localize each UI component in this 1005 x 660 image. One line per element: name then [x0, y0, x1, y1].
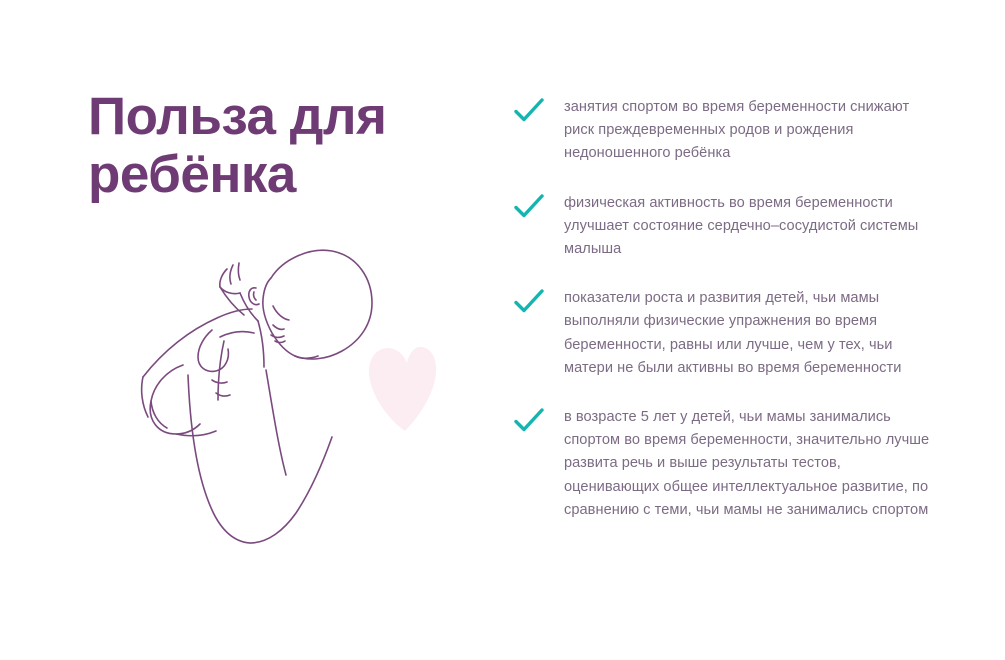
benefit-text: показатели роста и развития детей, чьи м…: [564, 287, 934, 380]
benefit-item-3: показатели роста и развития детей, чьи м…: [514, 287, 934, 380]
benefit-text: занятия спортом во время беременности сн…: [564, 96, 934, 166]
benefit-text: физическая активность во время беременно…: [564, 192, 934, 262]
check-icon: [514, 98, 544, 124]
benefit-item-4: в возрасте 5 лет у детей, чьи мамы заним…: [514, 406, 934, 522]
left-column: Польза для ребёнка: [0, 0, 500, 660]
check-icon: [514, 194, 544, 220]
benefits-list: занятия спортом во время беременности сн…: [514, 96, 934, 548]
benefit-text: в возрасте 5 лет у детей, чьи мамы заним…: [564, 406, 934, 522]
benefit-item-2: физическая активность во время беременно…: [514, 192, 934, 262]
sleeping-baby-illustration: [120, 225, 480, 570]
benefit-item-1: занятия спортом во время беременности сн…: [514, 96, 934, 166]
check-icon: [514, 408, 544, 434]
page-title: Польза для ребёнка: [88, 88, 448, 204]
heart-shape: [369, 347, 436, 431]
slide-canvas: Польза для ребёнка: [0, 0, 1005, 660]
check-icon: [514, 289, 544, 315]
